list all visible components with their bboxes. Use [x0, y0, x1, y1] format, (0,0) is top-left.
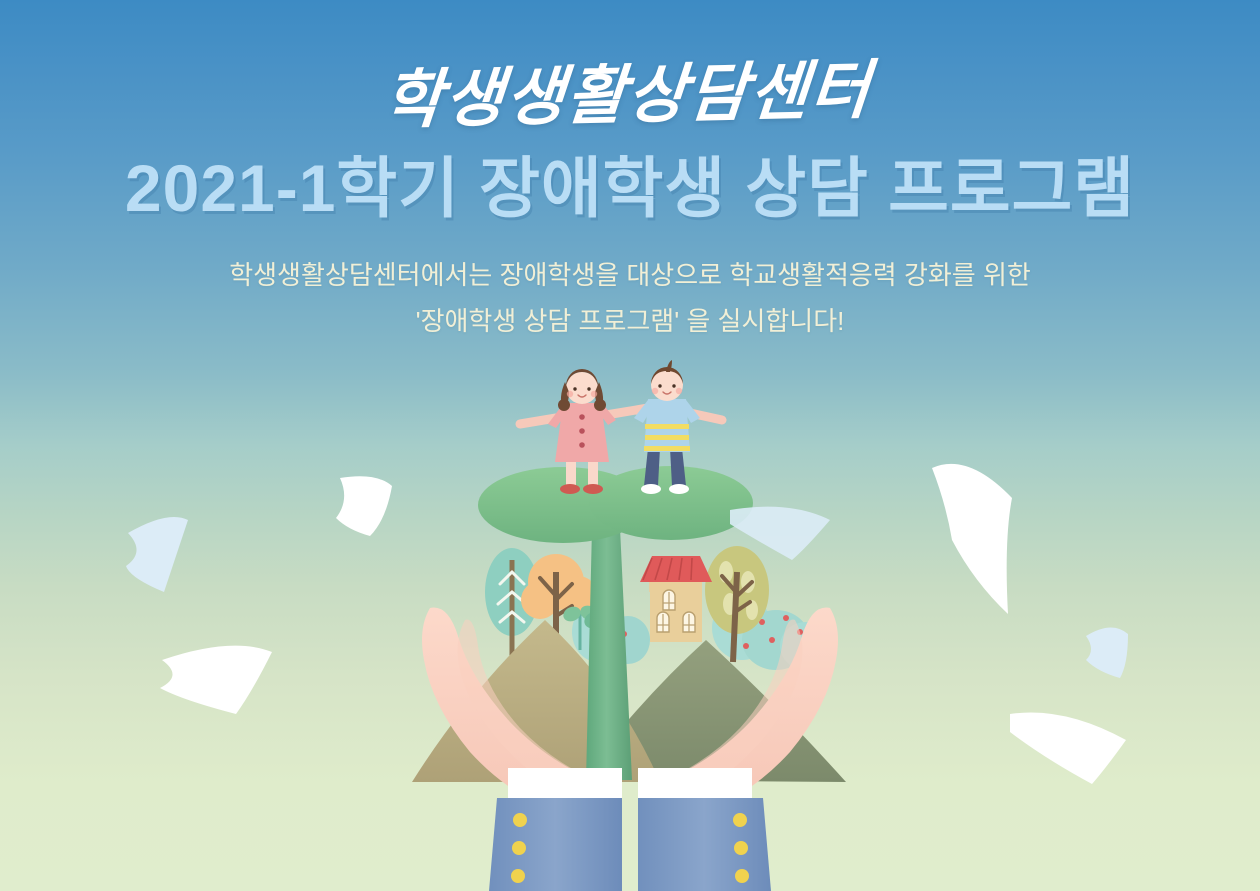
sleeve-cuff-left	[508, 768, 622, 800]
paper-6	[1010, 712, 1126, 784]
paper-3	[336, 476, 392, 536]
sleeve-cuff-right	[638, 768, 752, 800]
program-main-title: 2021-1학기 장애학생 상담 프로그램	[0, 129, 1260, 227]
poster-text-block: 학생생활상담센터 2021-1학기 장애학생 상담 프로그램 학생생활상담센터에…	[0, 0, 1260, 344]
sleeve-right	[638, 798, 771, 891]
poster-canvas: 학생생활상담센터 2021-1학기 장애학생 상담 프로그램 학생생활상담센터에…	[0, 0, 1260, 891]
paper-5	[1086, 627, 1128, 678]
program-description: 학생생활상담센터에서는 장애학생을 대상으로 학교생활적응력 강화를 위한 '장…	[0, 227, 1260, 344]
paper-1	[126, 517, 188, 592]
big-tree-canopy	[478, 466, 753, 543]
sleeve-left	[489, 798, 622, 891]
description-line-2: '장애학생 상담 프로그램' 을 실시합니다!	[416, 306, 845, 336]
village-house	[640, 556, 712, 642]
paper-2	[160, 646, 272, 714]
description-line-1: 학생생활상담센터에서는 장애학생을 대상으로 학교생활적응력 강화를 위한	[229, 260, 1031, 290]
big-tree-trunk	[586, 528, 632, 780]
paper-4	[932, 464, 1012, 614]
center-name-title: 학생생활상담센터	[0, 0, 1260, 142]
